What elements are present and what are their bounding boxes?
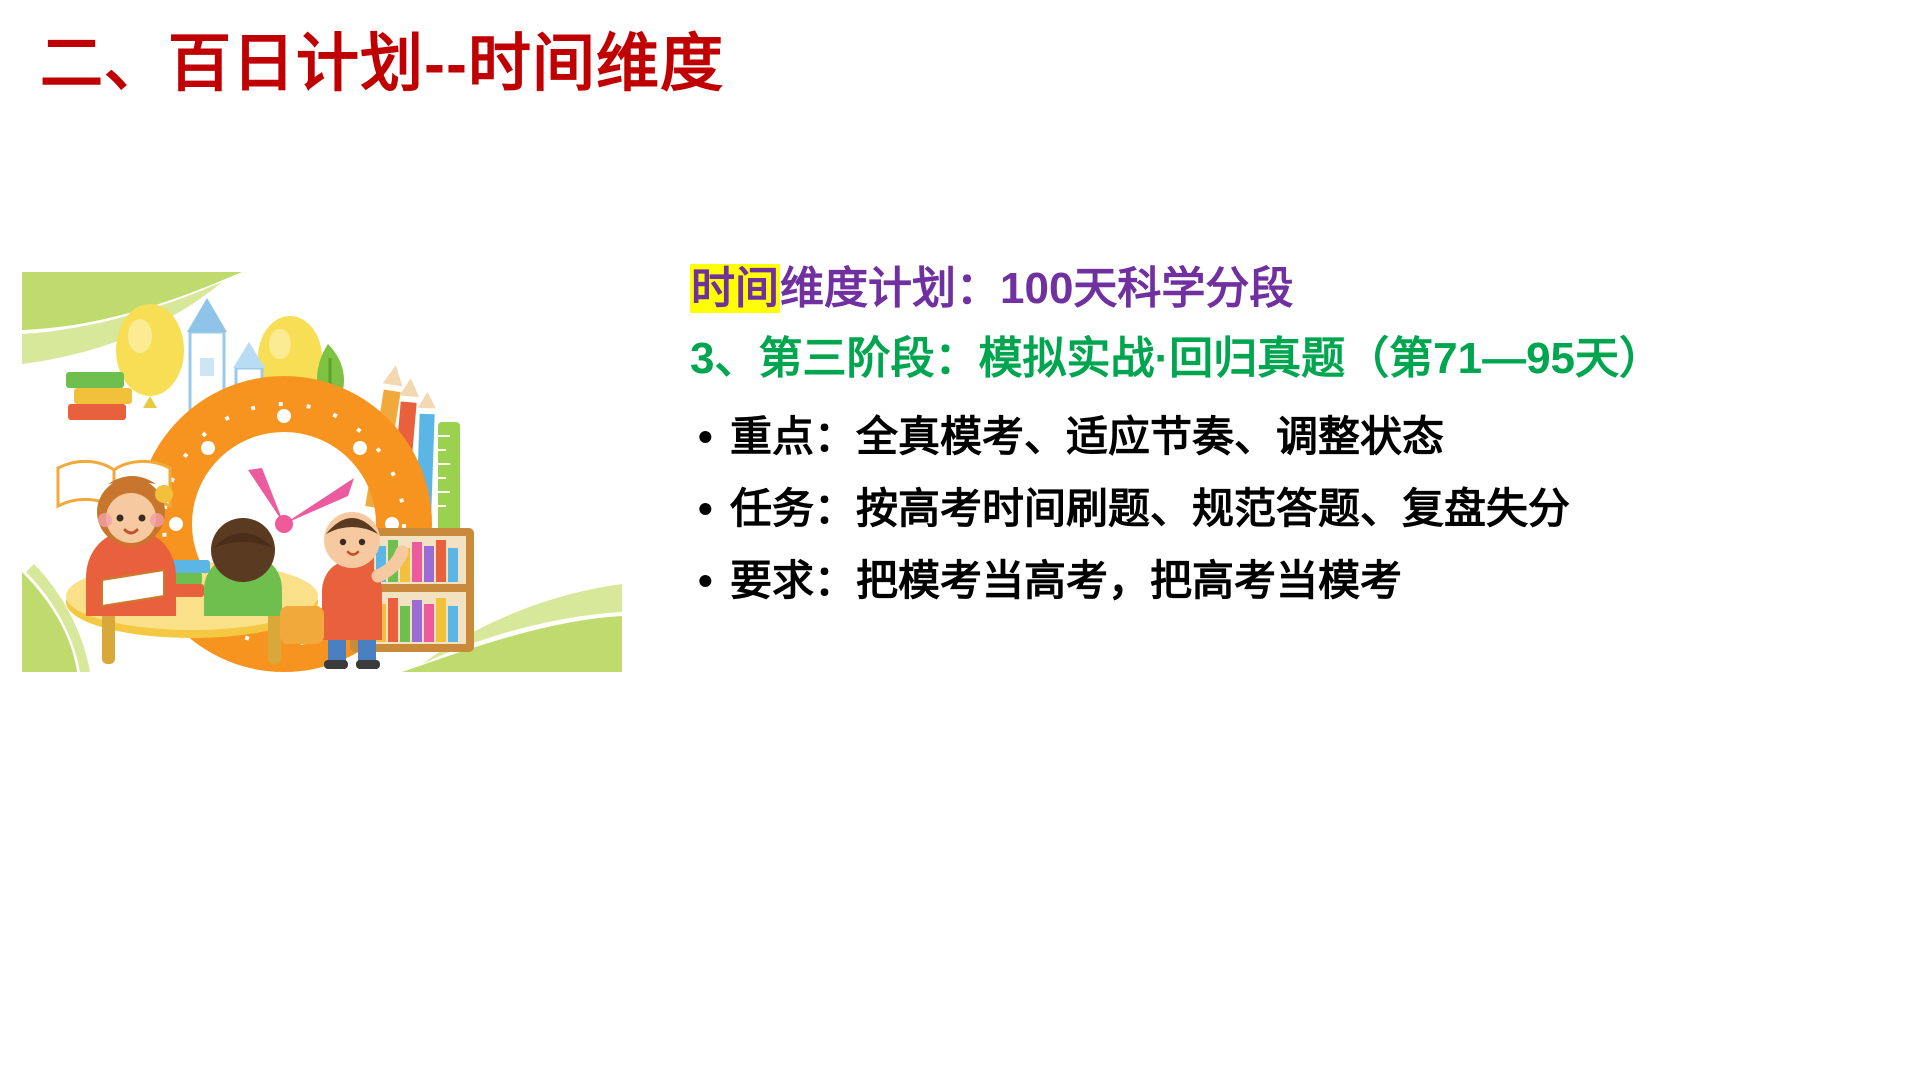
list-item-text: 要求：把模考当高考，把高考当模考	[730, 557, 1402, 604]
bullet-list: • 重点：全真模考、适应节奏、调整状态 • 任务：按高考时间刷题、规范答题、复盘…	[690, 401, 1900, 618]
bullet-marker-icon: •	[698, 545, 713, 617]
time-dimension-heading: 时间维度计划：100天科学分段	[690, 258, 1900, 320]
heading-rest-text: 维度计划：100天科学分段	[780, 264, 1293, 313]
stool-icon	[280, 606, 324, 644]
stage-three-heading: 3、第三阶段：模拟实战·回归真题（第71—95天）	[690, 328, 1900, 390]
clock-and-children-study-illustration	[22, 272, 622, 672]
bullet-marker-icon: •	[698, 473, 713, 545]
list-item: • 任务：按高考时间刷题、规范答题、复盘失分	[690, 473, 1900, 545]
highlighted-keyword: 时间	[690, 264, 780, 313]
content-column: 时间维度计划：100天科学分段 3、第三阶段：模拟实战·回归真题（第71—95天…	[690, 258, 1900, 618]
bullet-marker-icon: •	[698, 401, 713, 473]
list-item-text: 任务：按高考时间刷题、规范答题、复盘失分	[730, 485, 1570, 532]
ruler-icon	[438, 422, 460, 532]
list-item: • 重点：全真模考、适应节奏、调整状态	[690, 401, 1900, 473]
stacked-books-icon	[66, 372, 132, 420]
list-item-text: 重点：全真模考、适应节奏、调整状态	[730, 413, 1444, 460]
page-title: 二、百日计划--时间维度	[40, 28, 724, 100]
list-item: • 要求：把模考当高考，把高考当模考	[690, 545, 1900, 617]
slide-canvas: 二、百日计划--时间维度	[0, 0, 1920, 1080]
child-at-table-icon	[204, 518, 282, 616]
illustration-card	[22, 272, 622, 672]
